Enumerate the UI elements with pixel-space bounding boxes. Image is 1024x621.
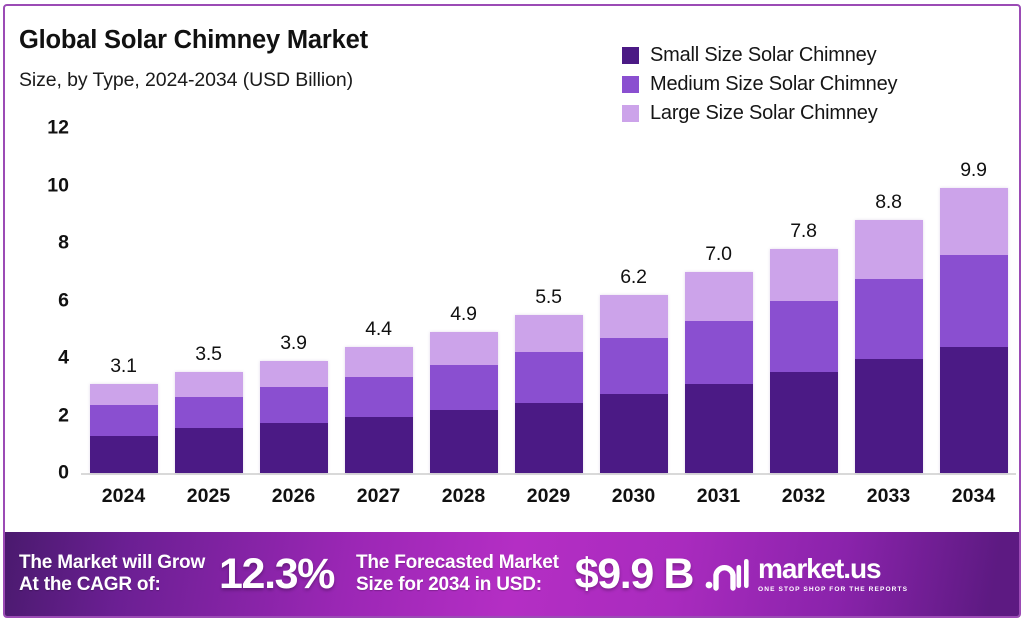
bar-segment[interactable]: [175, 397, 243, 429]
y-axis-tick-label: 6: [25, 289, 69, 312]
bar-segment[interactable]: [515, 352, 583, 402]
bar-value-label: 8.8: [829, 191, 949, 214]
bar-segment[interactable]: [90, 436, 158, 473]
stacked-bar[interactable]: [685, 272, 753, 473]
logo-text: market.us ONE STOP SHOP FOR THE REPORTS: [758, 555, 908, 593]
forecast-caption-line1: The Forecasted Market: [356, 552, 559, 574]
bar-segment[interactable]: [940, 188, 1008, 254]
bar-group: 3.120243.520253.920264.420274.920285.520…: [81, 111, 1016, 473]
cagr-value: 12.3%: [219, 553, 334, 596]
bar-segment[interactable]: [175, 428, 243, 473]
stacked-bar[interactable]: [770, 249, 838, 473]
bar-segment[interactable]: [175, 372, 243, 396]
bar-column[interactable]: [855, 111, 923, 473]
bar-segment[interactable]: [940, 347, 1008, 474]
legend-item[interactable]: Small Size Solar Chimney: [622, 41, 897, 70]
bar-chart-logo-icon: [705, 557, 751, 591]
bar-segment[interactable]: [770, 301, 838, 373]
page-title: Global Solar Chimney Market: [19, 26, 368, 55]
bar-column[interactable]: [600, 111, 668, 473]
y-axis-tick-label: 10: [25, 174, 69, 197]
stacked-bar[interactable]: [430, 332, 498, 473]
infographic-frame: Global Solar Chimney Market Size, by Typ…: [3, 4, 1021, 618]
x-axis-line: [81, 473, 1016, 475]
infographic-root: Global Solar Chimney Market Size, by Typ…: [0, 0, 1024, 621]
market-us-logo[interactable]: market.us ONE STOP SHOP FOR THE REPORTS: [705, 555, 908, 593]
bar-segment[interactable]: [770, 249, 838, 301]
bar-segment[interactable]: [430, 410, 498, 473]
bar-segment[interactable]: [430, 365, 498, 410]
y-axis-tick-label: 2: [25, 404, 69, 427]
legend-swatch-icon: [622, 47, 639, 64]
bar-segment[interactable]: [260, 423, 328, 473]
forecast-block: The Forecasted Market Size for 2034 in U…: [356, 552, 693, 596]
y-axis-tick-label: 8: [25, 232, 69, 255]
bar-column[interactable]: [90, 111, 158, 473]
y-axis-tick-label: 4: [25, 347, 69, 370]
x-axis-tick-label: 2034: [914, 485, 1022, 508]
stacked-bar[interactable]: [940, 188, 1008, 473]
bar-column[interactable]: [260, 111, 328, 473]
forecast-caption-line2: Size for 2034 in USD:: [356, 574, 559, 596]
logo-name: market.us: [758, 555, 908, 583]
cagr-caption-line1: The Market will Grow: [19, 552, 205, 574]
legend-swatch-icon: [622, 76, 639, 93]
chart-plot-area: 3.120243.520253.920264.420274.920285.520…: [5, 111, 1019, 516]
forecast-caption: The Forecasted Market Size for 2034 in U…: [356, 552, 559, 596]
bar-segment[interactable]: [855, 279, 923, 360]
stacked-bar[interactable]: [175, 372, 243, 473]
bar-segment[interactable]: [515, 403, 583, 473]
bar-segment[interactable]: [345, 347, 413, 377]
cagr-caption: The Market will Grow At the CAGR of:: [19, 552, 205, 596]
bar-segment[interactable]: [855, 220, 923, 279]
bar-value-label: 7.0: [659, 243, 779, 266]
legend-item-label: Small Size Solar Chimney: [650, 44, 876, 67]
footer-banner: The Market will Grow At the CAGR of: 12.…: [5, 532, 1019, 616]
bar-column[interactable]: [685, 111, 753, 473]
bar-segment[interactable]: [685, 384, 753, 473]
bar-column[interactable]: [175, 111, 243, 473]
y-axis-tick-label: 12: [25, 117, 69, 140]
stacked-bar[interactable]: [600, 295, 668, 473]
bar-segment[interactable]: [685, 321, 753, 384]
y-axis-tick-label: 0: [25, 462, 69, 485]
bar-value-label: 6.2: [574, 266, 694, 289]
bar-segment[interactable]: [600, 295, 668, 338]
bar-value-label: 9.9: [914, 159, 1022, 182]
bar-segment[interactable]: [90, 384, 158, 406]
cagr-block: The Market will Grow At the CAGR of: 12.…: [19, 552, 334, 596]
bar-value-label: 5.5: [489, 286, 609, 309]
bar-value-label: 7.8: [744, 220, 864, 243]
forecast-value: $9.9 B: [575, 553, 693, 596]
stacked-bar[interactable]: [855, 220, 923, 473]
bar-column[interactable]: [770, 111, 838, 473]
legend-item[interactable]: Medium Size Solar Chimney: [622, 70, 897, 99]
bar-segment[interactable]: [600, 394, 668, 473]
bar-segment[interactable]: [260, 387, 328, 423]
stacked-bar[interactable]: [515, 315, 583, 473]
bar-segment[interactable]: [600, 338, 668, 394]
bar-segment[interactable]: [345, 377, 413, 417]
bar-column[interactable]: [345, 111, 413, 473]
bar-segment[interactable]: [260, 361, 328, 387]
bar-segment[interactable]: [940, 255, 1008, 347]
bar-segment[interactable]: [855, 359, 923, 473]
bar-segment[interactable]: [90, 405, 158, 435]
bar-segment[interactable]: [345, 417, 413, 473]
bar-segment[interactable]: [685, 272, 753, 321]
legend-item-label: Medium Size Solar Chimney: [650, 73, 897, 96]
stacked-bar[interactable]: [90, 384, 158, 473]
bar-segment[interactable]: [770, 372, 838, 473]
stacked-bar[interactable]: [260, 361, 328, 473]
logo-tagline: ONE STOP SHOP FOR THE REPORTS: [758, 586, 908, 593]
cagr-caption-line2: At the CAGR of:: [19, 574, 205, 596]
bar-segment[interactable]: [515, 315, 583, 352]
bar-column[interactable]: [430, 111, 498, 473]
stacked-bar[interactable]: [345, 347, 413, 474]
bar-segment[interactable]: [430, 332, 498, 365]
page-subtitle: Size, by Type, 2024-2034 (USD Billion): [19, 69, 353, 92]
